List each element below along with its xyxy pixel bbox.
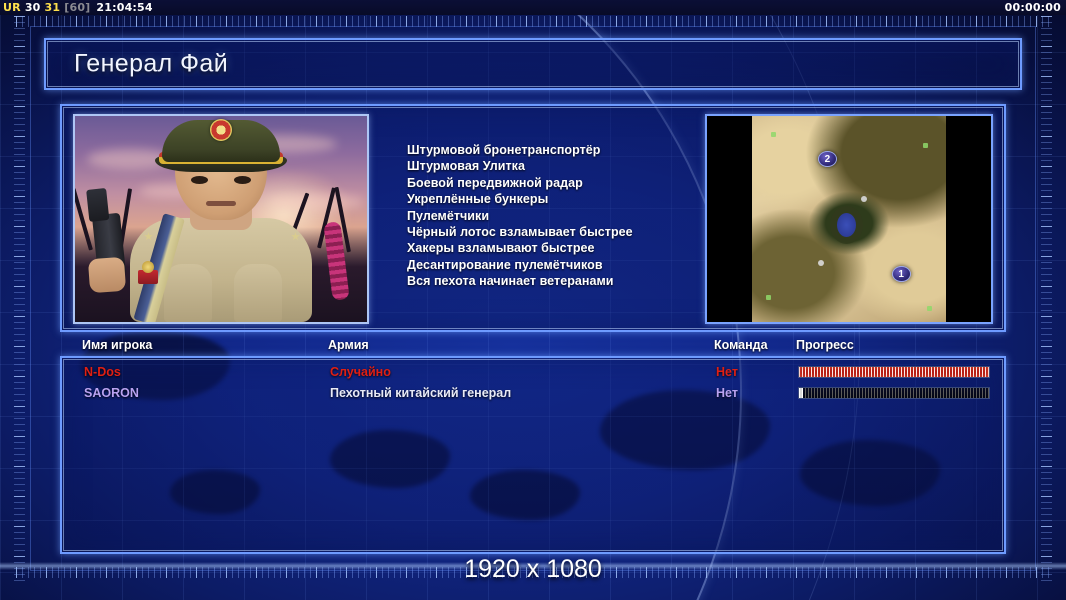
minimap-structure — [818, 260, 824, 266]
progress-fill — [799, 388, 803, 398]
game-lobby-screen: UR 30 31 [60] 21:04:54 00:00:00 Генерал … — [0, 0, 1066, 600]
minimap-frame[interactable]: 2 1 — [705, 114, 993, 324]
minimap-start-marker-1[interactable]: 1 — [892, 266, 911, 282]
player-progress-bar — [798, 387, 990, 399]
ability-item: Боевой передвижной радар — [407, 175, 707, 191]
minimap-marker-label: 1 — [898, 269, 904, 280]
page-title: Генерал Фай — [74, 50, 228, 79]
minimap-terrain: 2 1 — [752, 116, 946, 322]
general-portrait-frame — [73, 114, 369, 324]
ability-item: Штурмовой бронетранспортёр — [407, 142, 707, 158]
status-timer: 21:04:54 — [96, 1, 152, 14]
portrait-cap-badge — [210, 119, 232, 141]
progress-fill — [799, 367, 989, 377]
header-progress: Прогресс — [796, 338, 854, 352]
portrait-rank-star — [291, 232, 300, 241]
minimap-resource — [766, 295, 771, 300]
player-name: N-Dos — [84, 365, 121, 379]
status-value-1: 30 — [25, 1, 41, 14]
resolution-overlay: 1920 x 1080 — [0, 555, 1066, 584]
player-army[interactable]: Пехотный китайский генерал — [330, 386, 511, 400]
player-name: SAORON — [84, 386, 139, 400]
portrait-shoulder-left — [164, 264, 212, 322]
general-abilities-list: Штурмовой бронетранспортёр Штурмовая Ули… — [407, 142, 707, 290]
minimap-resource — [771, 132, 776, 137]
portrait-eye-left — [191, 176, 208, 184]
minimap-start-marker-2[interactable]: 2 — [818, 151, 837, 167]
header-player-name: Имя игрока — [82, 338, 152, 352]
minimap-resource — [927, 306, 932, 311]
ability-item: Десантирование пулемётчиков — [407, 257, 707, 273]
header-army: Армия — [328, 338, 369, 352]
status-bar-left: UR 30 31 [60] 21:04:54 — [0, 1, 153, 14]
portrait-eye-right — [234, 176, 251, 184]
portrait-mouth — [206, 201, 236, 206]
ability-item: Хакеры взламывают быстрее — [407, 240, 707, 256]
player-army[interactable]: Случайно — [330, 365, 391, 379]
minimap-marker-label: 2 — [825, 154, 831, 165]
player-team[interactable]: Нет — [716, 386, 738, 400]
ability-item: Вся пехота начинает ветеранами — [407, 273, 707, 289]
ability-item: Чёрный лотос взламывает быстрее — [407, 224, 707, 240]
status-ur-label: UR — [3, 1, 21, 14]
status-value-2: 31 — [45, 1, 61, 14]
ability-item: Пулемётчики — [407, 208, 707, 224]
status-bracket: [60] — [64, 1, 90, 14]
status-clock: 00:00:00 — [1005, 1, 1066, 14]
ability-item: Штурмовая Улитка — [407, 158, 707, 174]
minimap-resource — [923, 143, 928, 148]
player-list-panel: N-Dos Случайно Нет SAORON Пехотный китай… — [60, 356, 1006, 554]
ability-item: Укреплённые бункеры — [407, 191, 707, 207]
portrait-shoulder-right — [234, 264, 282, 322]
player-list-headers: Имя игрока Армия Команда Прогресс — [60, 338, 1006, 358]
portrait-hand — [88, 257, 126, 293]
portrait-medal — [138, 270, 158, 284]
portrait-rank-star — [144, 232, 153, 241]
player-progress-bar — [798, 366, 990, 378]
header-team: Команда — [714, 338, 768, 352]
minimap-structure — [861, 196, 867, 202]
progress-track — [799, 388, 989, 398]
general-info-panel: Штурмовой бронетранспортёр Штурмовая Ули… — [60, 104, 1006, 332]
player-team[interactable]: Нет — [716, 365, 738, 379]
minimap-lake — [837, 213, 856, 237]
table-row[interactable]: N-Dos Случайно Нет — [62, 363, 1004, 384]
status-bar: UR 30 31 [60] 21:04:54 00:00:00 — [0, 0, 1066, 15]
title-panel: Генерал Фай — [44, 38, 1022, 90]
player-rows: N-Dos Случайно Нет SAORON Пехотный китай… — [62, 363, 1004, 405]
general-portrait-image — [75, 116, 367, 322]
table-row[interactable]: SAORON Пехотный китайский генерал Нет — [62, 384, 1004, 405]
